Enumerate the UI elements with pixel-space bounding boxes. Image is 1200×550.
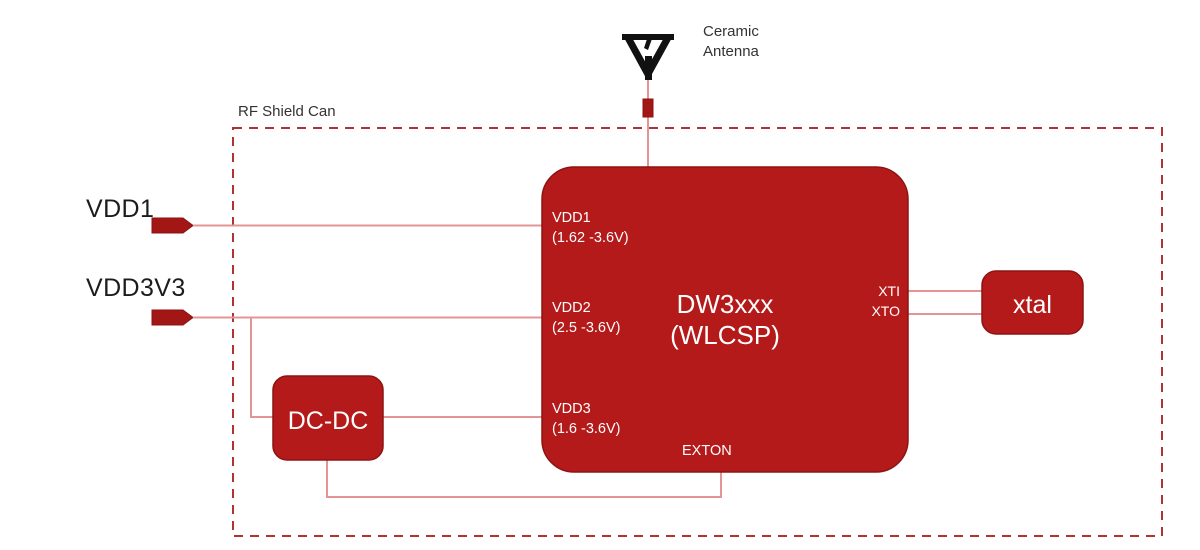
chip-pin-vdd3-label: VDD3	[552, 400, 591, 419]
supply-label-vdd3v3: VDD3V3	[86, 272, 186, 304]
ceramic-antenna-label-line2: Antenna	[703, 42, 759, 61]
vdd1-supply-pennant	[152, 218, 193, 233]
block-diagram-canvas: Ceramic Antenna RF Shield Can VDD1 VDD3V…	[0, 0, 1200, 550]
vdd3v3-supply-pennant	[152, 310, 193, 325]
chip-title-line2: (WLCSP)	[610, 318, 840, 353]
supply-label-vdd1: VDD1	[86, 193, 154, 225]
dcdc-block-label: DC-DC	[273, 405, 383, 438]
chip-pin-xto-label: XTO	[835, 302, 900, 320]
chip-pin-vdd3-range: (1.6 -3.6V)	[552, 420, 621, 439]
chip-pin-vdd1-label: VDD1	[552, 209, 591, 228]
chip-pin-vdd1-range: (1.62 -3.6V)	[552, 229, 629, 248]
rf-match-component	[643, 99, 653, 117]
vdd3v3-branch-to-dcdc	[251, 318, 275, 418]
chip-pin-vdd2-label: VDD2	[552, 299, 591, 318]
xtal-block-label: xtal	[982, 289, 1083, 322]
chip-pin-exton-label: EXTON	[682, 442, 732, 461]
antenna-icon	[622, 34, 674, 80]
ceramic-antenna-label-line1: Ceramic	[703, 22, 759, 41]
chip-pin-xti-label: XTI	[835, 282, 900, 300]
rf-shield-can-label: RF Shield Can	[238, 102, 336, 121]
chip-title-line1: DW3xxx	[610, 287, 840, 322]
